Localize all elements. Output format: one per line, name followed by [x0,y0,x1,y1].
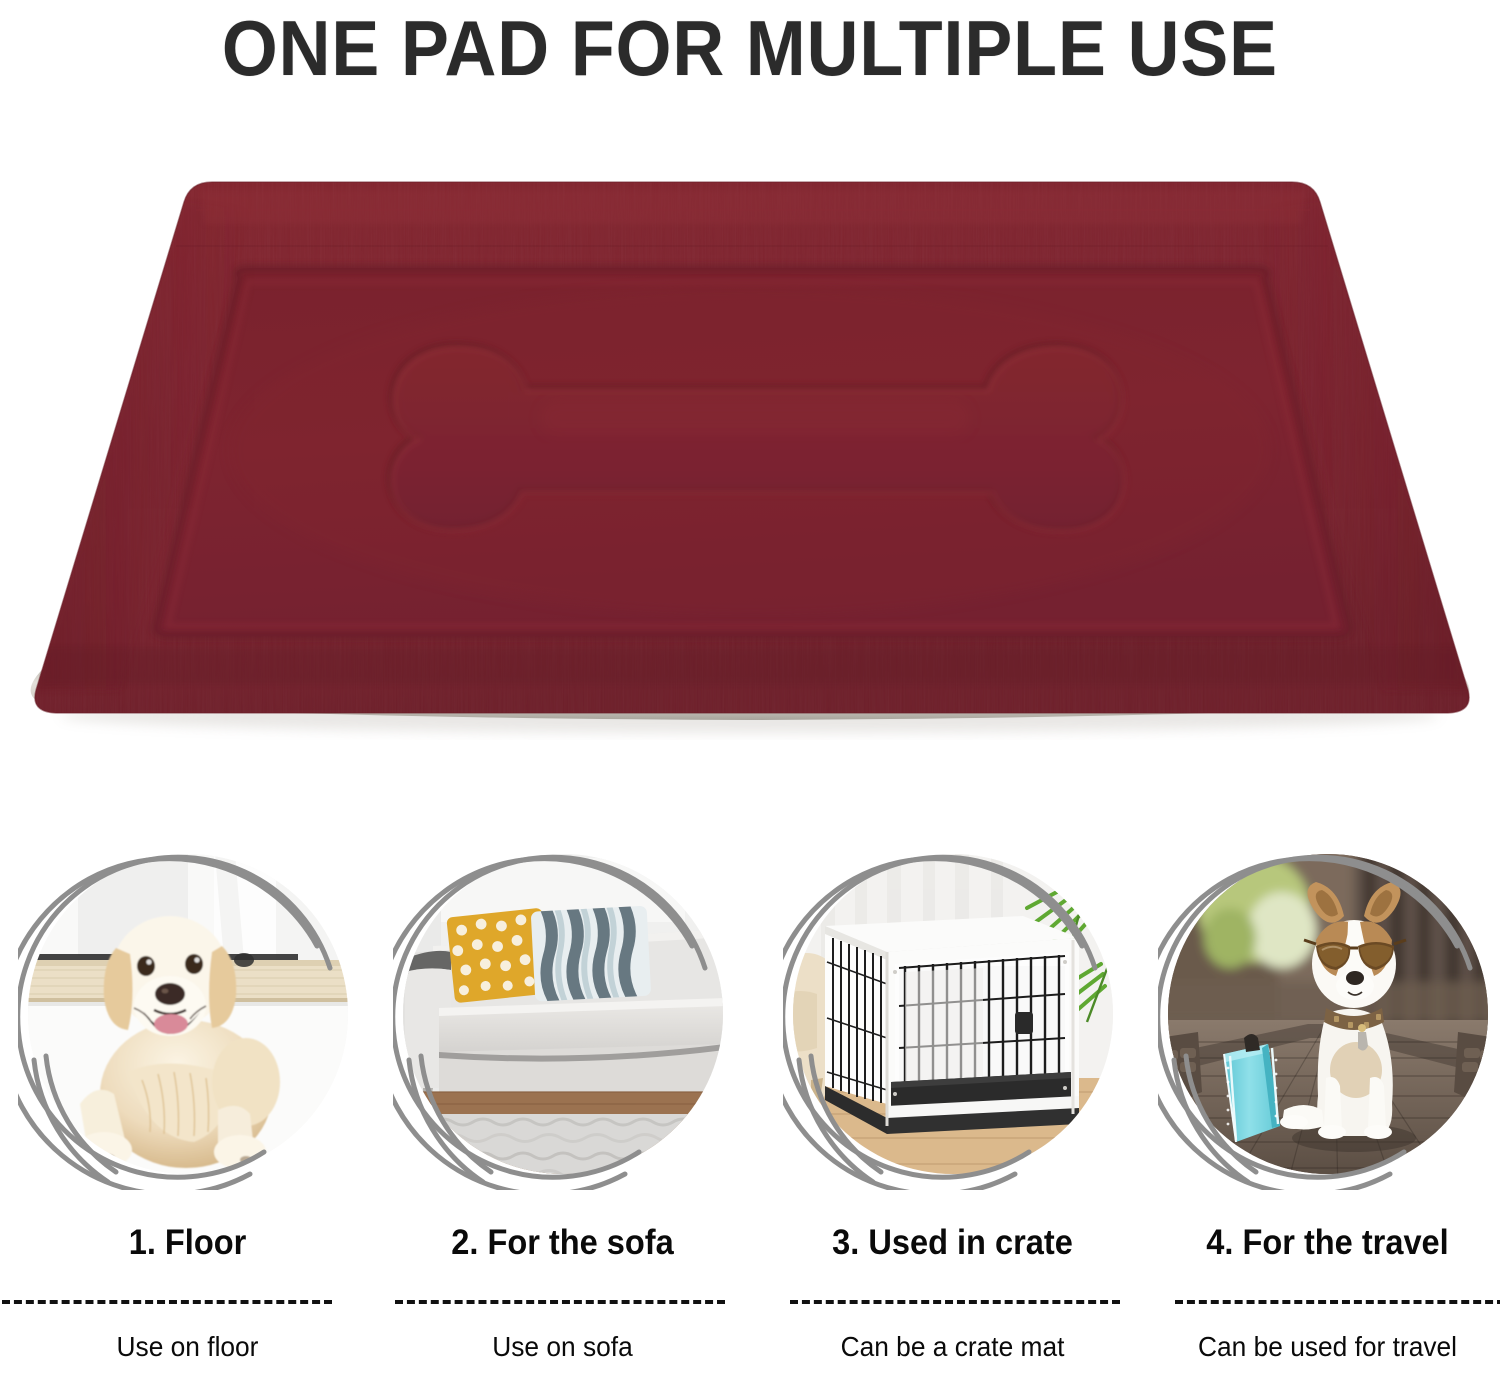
golden-retriever-on-floor-photo [18,842,358,1190]
usecase-subtitle: Use on sofa [386,1330,739,1364]
headline-text: ONE PAD FOR MULTIPLE USE [222,9,1278,87]
dog-crate-pad-illustration [0,150,1500,780]
product-hero-image [0,150,1500,780]
usecase-caption-floor: 1. Floor Use on floor [0,1222,375,1364]
light-gray-sofa-photo [393,842,733,1190]
usecase-subtitle: Use on floor [11,1330,364,1364]
usecase-caption-travel: 4. For the travel Can be used for travel [1140,1222,1500,1364]
usecase-item-floor: 1. Floor Use on floor [0,838,375,1387]
usecase-item-travel: 4. For the travel Can be used for travel [1140,838,1500,1387]
white-wooden-dog-crate-photo [783,842,1123,1190]
dashed-divider [395,1300,725,1304]
usecase-subtitle: Can be used for travel [1151,1330,1500,1364]
dashed-divider [790,1300,1120,1304]
usecase-photo-sofa [393,842,733,1190]
dashed-divider [2,1300,332,1304]
usecase-caption-sofa: 2. For the sofa Use on sofa [375,1222,750,1364]
usecase-item-sofa: 2. For the sofa Use on sofa [375,838,750,1387]
usecase-caption-crate: 3. Used in crate Can be a crate mat [765,1222,1140,1364]
usecase-photo-crate [783,842,1123,1190]
usecase-photo-floor [18,842,358,1190]
usecase-photo-travel [1158,842,1498,1190]
page-title: ONE PAD FOR MULTIPLE USE [0,0,1500,96]
dashed-divider [1175,1300,1500,1304]
pad-body [0,150,1500,780]
usecase-title: 2. For the sofa [388,1222,737,1264]
usecase-subtitle: Can be a crate mat [776,1330,1129,1364]
usecase-title: 4. For the travel [1153,1222,1500,1264]
jack-russell-with-suitcase-photo [1158,842,1498,1190]
usecase-title: 1. Floor [13,1222,362,1264]
usecase-item-crate: 3. Used in crate Can be a crate mat [765,838,1140,1387]
usecase-title: 3. Used in crate [778,1222,1127,1264]
usecase-grid: 1. Floor Use on floor [0,838,1500,1387]
